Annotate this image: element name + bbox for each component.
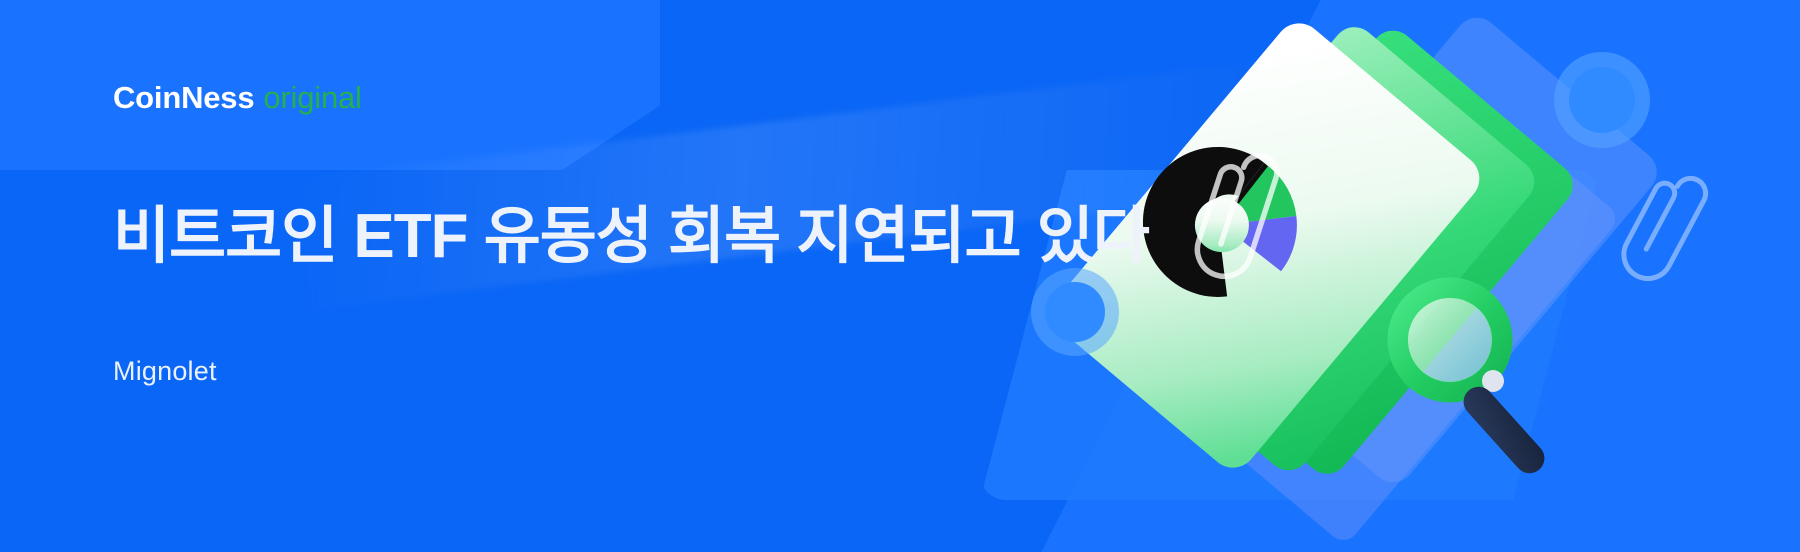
logo-sub-text: original [263, 80, 361, 115]
document-analysis-illustration [980, 0, 1800, 552]
page-title: 비트코인 ETF 유동성 회복 지연되고 있다 [113, 206, 1149, 268]
article-hero-banner: CoinNessoriginal 비트코인 ETF 유동성 회복 지연되고 있다… [0, 0, 1800, 552]
coinness-original-logo: CoinNessoriginal [113, 82, 362, 113]
ring-circle-bottom [1031, 268, 1119, 356]
logo-brand-text: CoinNess [113, 80, 254, 115]
ring-circle-top [1554, 52, 1650, 148]
article-author: Mignolet [113, 358, 217, 385]
